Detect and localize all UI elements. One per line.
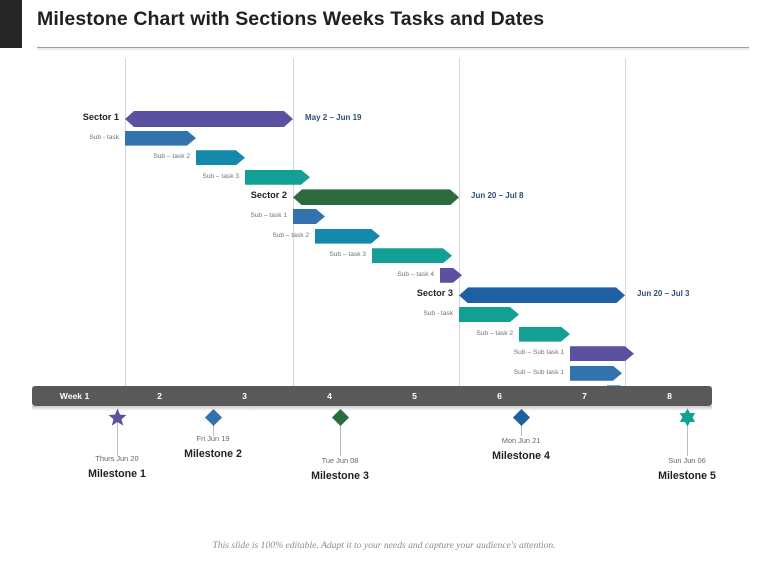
task-label: Sub – task 3 bbox=[329, 251, 366, 258]
milestone-name: Milestone 4 bbox=[461, 450, 581, 462]
gantt-row: Sub – task 2 bbox=[0, 150, 768, 168]
milestone-name: Milestone 3 bbox=[280, 470, 400, 482]
sector-date-range: Jun 20 – Jul 8 bbox=[471, 191, 523, 200]
milestone-row: Thurs Jun 20Milestone 1Fri Jun 19Milesto… bbox=[0, 406, 768, 506]
task-bar[interactable] bbox=[245, 170, 310, 185]
sector-bar[interactable] bbox=[459, 287, 625, 303]
gantt-row: Sector 1May 2 – Jun 19 bbox=[0, 111, 768, 129]
milestone-name: Milestone 5 bbox=[627, 470, 747, 482]
gantt-row: Sub – task 3 bbox=[0, 248, 768, 266]
week-axis-bar: Week 12345678 bbox=[32, 386, 712, 406]
task-bar[interactable] bbox=[315, 229, 380, 244]
header-accent-block bbox=[0, 0, 22, 48]
sector-label: Sector 1 bbox=[83, 112, 119, 122]
task-label: Sub – task 2 bbox=[153, 153, 190, 160]
task-bar[interactable] bbox=[440, 268, 462, 283]
task-label: Sub – task 1 bbox=[250, 212, 287, 219]
week-tick-2[interactable]: 2 bbox=[117, 386, 202, 406]
milestone-stem bbox=[340, 422, 341, 456]
gantt-row: Sub – Sub task 1 bbox=[0, 346, 768, 364]
week-tick-8[interactable]: 8 bbox=[627, 386, 712, 406]
gantt-row: Sub – task 2 bbox=[0, 229, 768, 247]
milestone-stem bbox=[687, 422, 688, 456]
diamond-icon[interactable] bbox=[204, 408, 223, 427]
milestone-date: Tue Jun 08 bbox=[280, 456, 400, 465]
gantt-plot-area: Sector 1May 2 – Jun 19Sub - taskSub – ta… bbox=[0, 58, 768, 388]
task-label: Sub - task bbox=[89, 134, 119, 141]
task-bar[interactable] bbox=[570, 346, 634, 361]
star-icon[interactable] bbox=[108, 408, 127, 427]
week-tick-7[interactable]: 7 bbox=[542, 386, 627, 406]
diamond-icon[interactable] bbox=[331, 408, 350, 427]
gantt-row: Sub – task 2 bbox=[0, 327, 768, 345]
milestone-date: Mon Jun 21 bbox=[461, 436, 581, 445]
sector-bar[interactable] bbox=[125, 111, 293, 127]
diamond-icon[interactable] bbox=[512, 408, 531, 427]
gantt-row: Sub – task 1 bbox=[0, 209, 768, 227]
task-label: Sub – task 4 bbox=[397, 271, 434, 278]
gantt-row: Sector 2Jun 20 – Jul 8 bbox=[0, 189, 768, 207]
task-bar[interactable] bbox=[372, 248, 452, 263]
task-bar[interactable] bbox=[570, 366, 622, 381]
task-label: Sub – Sub task 1 bbox=[514, 369, 564, 376]
sector-bar[interactable] bbox=[293, 189, 459, 205]
gantt-row: Sub – task 3 bbox=[0, 170, 768, 188]
gantt-row: Sub - task bbox=[0, 307, 768, 325]
task-label: Sub – task 2 bbox=[272, 232, 309, 239]
page-title: Milestone Chart with Sections Weeks Task… bbox=[37, 8, 544, 31]
task-label: Sub – task 2 bbox=[476, 330, 513, 337]
week-tick-3[interactable]: 3 bbox=[202, 386, 287, 406]
task-bar[interactable] bbox=[459, 307, 519, 322]
week-tick-6[interactable]: 6 bbox=[457, 386, 542, 406]
sector-label: Sector 2 bbox=[251, 190, 287, 200]
task-label: Sub - task bbox=[423, 310, 453, 317]
gantt-row: Sub - task bbox=[0, 131, 768, 149]
sector-date-range: May 2 – Jun 19 bbox=[305, 113, 361, 122]
gantt-row: Sub – task 4 bbox=[0, 268, 768, 286]
week-tick-4[interactable]: 4 bbox=[287, 386, 372, 406]
week-tick-1[interactable]: Week 1 bbox=[32, 386, 117, 406]
milestone-name: Milestone 1 bbox=[57, 468, 177, 480]
starburst-icon[interactable] bbox=[678, 408, 697, 427]
footer-note: This slide is 100% editable. Adapt it to… bbox=[0, 540, 768, 551]
week-tick-5[interactable]: 5 bbox=[372, 386, 457, 406]
milestone-stem bbox=[117, 422, 118, 456]
slide-header: Milestone Chart with Sections Weeks Task… bbox=[0, 0, 768, 52]
gantt-row: Sector 3Jun 20 – Jul 3 bbox=[0, 287, 768, 305]
milestone-name: Milestone 2 bbox=[153, 448, 273, 460]
task-bar[interactable] bbox=[293, 209, 325, 224]
task-bar[interactable] bbox=[196, 150, 245, 165]
milestone-date: Sun Jun 06 bbox=[627, 456, 747, 465]
task-label: Sub – Sub task 1 bbox=[514, 349, 564, 356]
sector-label: Sector 3 bbox=[417, 288, 453, 298]
milestone-date: Fri Jun 19 bbox=[153, 434, 273, 443]
task-bar[interactable] bbox=[519, 327, 570, 342]
task-bar[interactable] bbox=[125, 131, 196, 146]
task-label: Sub – task 3 bbox=[202, 173, 239, 180]
sector-date-range: Jun 20 – Jul 3 bbox=[637, 289, 689, 298]
title-divider bbox=[37, 47, 749, 50]
gantt-row: Sub – Sub task 1 bbox=[0, 366, 768, 384]
